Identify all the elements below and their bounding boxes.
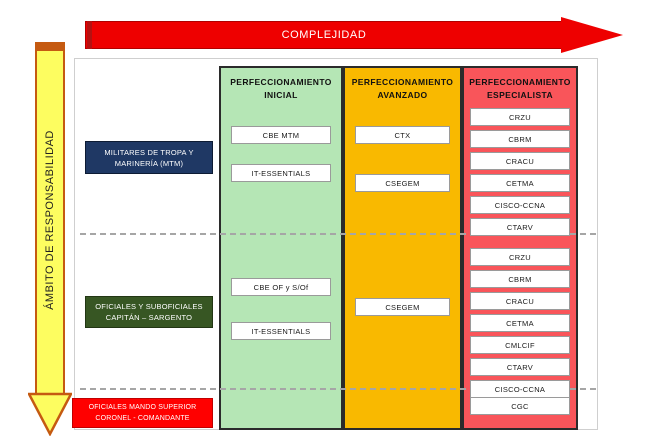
row-label-mando-line1: OFICIALES MANDO SUPERIOR <box>89 402 197 413</box>
course-chip[interactable]: CTARV <box>470 358 570 376</box>
course-chip[interactable]: IT-ESSENTIALS <box>231 322 331 340</box>
course-chip[interactable]: CBRM <box>470 270 570 288</box>
column-header-specialist: PERFECCIONAMIENTO ESPECIALISTA <box>464 76 576 102</box>
column-header-advanced-line2: AVANZADO <box>345 89 460 102</box>
row-label-oficiales-mando-superior: OFICIALES MANDO SUPERIOR CORONEL - COMAN… <box>72 398 213 428</box>
course-chip[interactable]: CRZU <box>470 108 570 126</box>
complexity-arrow: COMPLEJIDAD <box>85 17 625 53</box>
column-header-advanced-line1: PERFECCIONAMIENTO <box>345 76 460 89</box>
course-chip[interactable]: IT-ESSENTIALS <box>231 164 331 182</box>
row-label-militares-tropa-marineria: MILITARES DE TROPA Y MARINERÍA (MTM) <box>85 141 213 174</box>
column-header-advanced: PERFECCIONAMIENTO AVANZADO <box>345 76 460 102</box>
responsibility-arrow: ÁMBITO DE RESPONSABILIDAD <box>35 42 65 437</box>
row-label-oficiales-line2: CAPITÁN – SARGENTO <box>95 312 202 323</box>
course-chip[interactable]: CISCO-CCNA <box>470 196 570 214</box>
diagram-canvas: COMPLEJIDAD ÁMBITO DE RESPONSABILIDAD PE… <box>0 0 650 440</box>
course-chip[interactable]: CTX <box>355 126 450 144</box>
course-chip[interactable]: CSEGEM <box>355 174 450 192</box>
course-chip[interactable]: CGC <box>470 397 570 415</box>
column-header-initial: PERFECCIONAMIENTO INICIAL <box>221 76 341 102</box>
course-chip[interactable]: CRACU <box>470 292 570 310</box>
row-label-mtm-line1: MILITARES DE TROPA Y <box>104 147 193 158</box>
row-label-oficiales-suboficiales: OFICIALES Y SUBOFICIALES CAPITÁN – SARGE… <box>85 296 213 328</box>
column-header-specialist-line2: ESPECIALISTA <box>464 89 576 102</box>
row-label-oficiales-line1: OFICIALES Y SUBOFICIALES <box>95 301 202 312</box>
column-perfeccionamiento-inicial: PERFECCIONAMIENTO INICIAL <box>219 66 343 430</box>
course-chip[interactable]: CETMA <box>470 314 570 332</box>
column-perfeccionamiento-avanzado: PERFECCIONAMIENTO AVANZADO <box>343 66 462 430</box>
course-chip[interactable]: CBE OF y S/Of <box>231 278 331 296</box>
course-chip[interactable]: CRZU <box>470 248 570 266</box>
course-chip[interactable]: CTARV <box>470 218 570 236</box>
row-label-mtm-line2: MARINERÍA (MTM) <box>104 158 193 169</box>
course-chip[interactable]: CSEGEM <box>355 298 450 316</box>
course-chip[interactable]: CRACU <box>470 152 570 170</box>
course-chip[interactable]: CMLCIF <box>470 336 570 354</box>
course-chip[interactable]: CBRM <box>470 130 570 148</box>
course-chip[interactable]: CETMA <box>470 174 570 192</box>
column-header-initial-line1: PERFECCIONAMIENTO <box>221 76 341 89</box>
responsibility-arrow-label: ÁMBITO DE RESPONSABILIDAD <box>40 37 60 403</box>
course-chip[interactable]: CBE MTM <box>231 126 331 144</box>
complexity-arrow-label: COMPLEJIDAD <box>85 21 563 49</box>
complexity-arrow-head-icon <box>561 17 623 53</box>
column-header-specialist-line1: PERFECCIONAMIENTO <box>464 76 576 89</box>
course-chip[interactable]: CISCO-CCNA <box>470 380 570 398</box>
column-header-initial-line2: INICIAL <box>221 89 341 102</box>
row-label-mando-line2: CORONEL - COMANDANTE <box>89 413 197 424</box>
